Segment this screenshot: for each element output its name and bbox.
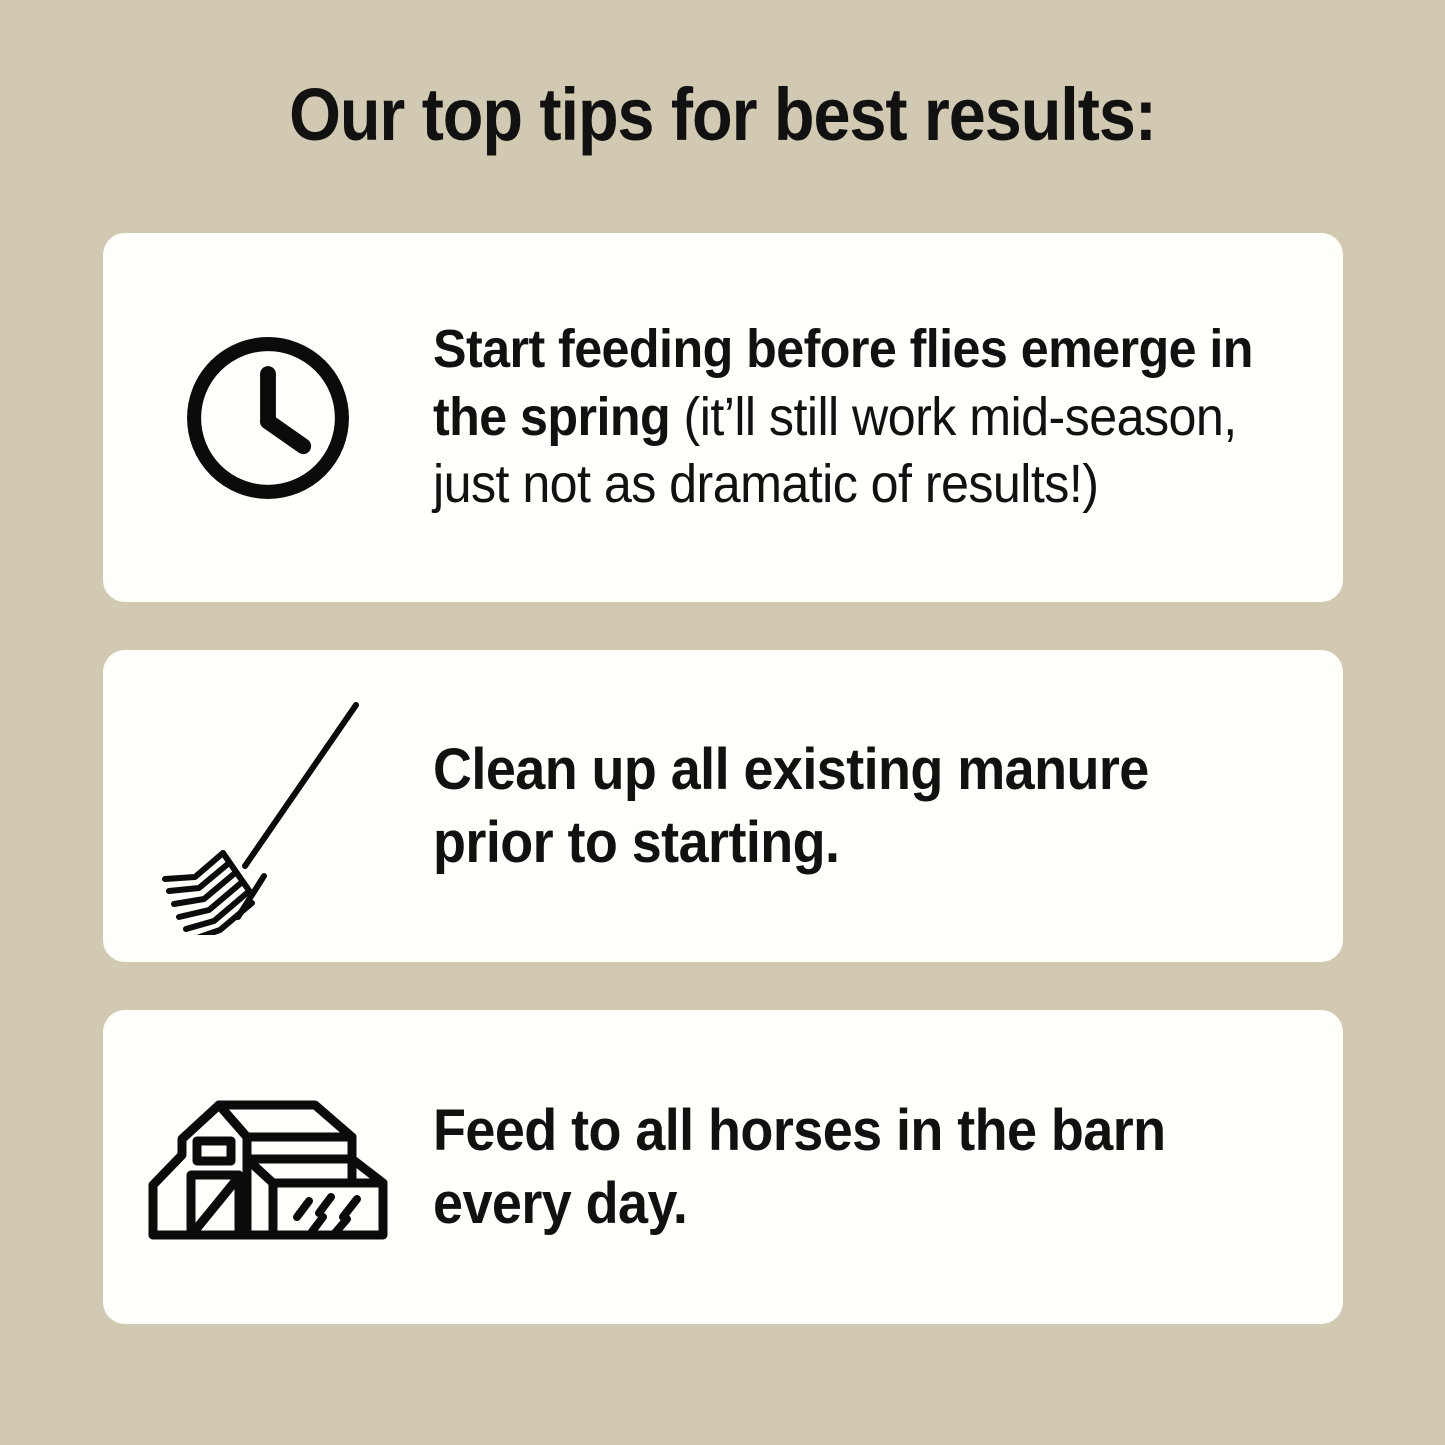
tip-card-1: Start feeding before flies emerge in the… — [103, 233, 1343, 602]
clock-icon — [180, 330, 356, 506]
barn-icon — [147, 1093, 389, 1241]
tip-text-1: Start feeding before flies emerge in the… — [433, 316, 1279, 519]
tips-list: Start feeding before flies emerge in the… — [103, 233, 1343, 1324]
tip-card-2: Clean up all existing manure prior to st… — [103, 650, 1343, 962]
tip-icon-container-1 — [103, 233, 433, 602]
tip-text-2: Clean up all existing manure prior to st… — [433, 733, 1279, 879]
tips-infographic: Our top tips for best results: Start fee… — [0, 0, 1445, 1445]
tip-text-3: Feed to all horses in the barn every day… — [433, 1094, 1279, 1240]
tip-icon-container-3 — [103, 1010, 433, 1324]
tip-text-2-bold: Clean up all existing manure prior to st… — [433, 737, 1149, 875]
tip-card-3: Feed to all horses in the barn every day… — [103, 1010, 1343, 1324]
page-title: Our top tips for best results: — [72, 78, 1373, 152]
tip-text-3-bold: Feed to all horses in the barn every day… — [433, 1098, 1166, 1236]
tip-icon-container-2 — [103, 650, 433, 962]
pitchfork-icon — [153, 677, 383, 935]
